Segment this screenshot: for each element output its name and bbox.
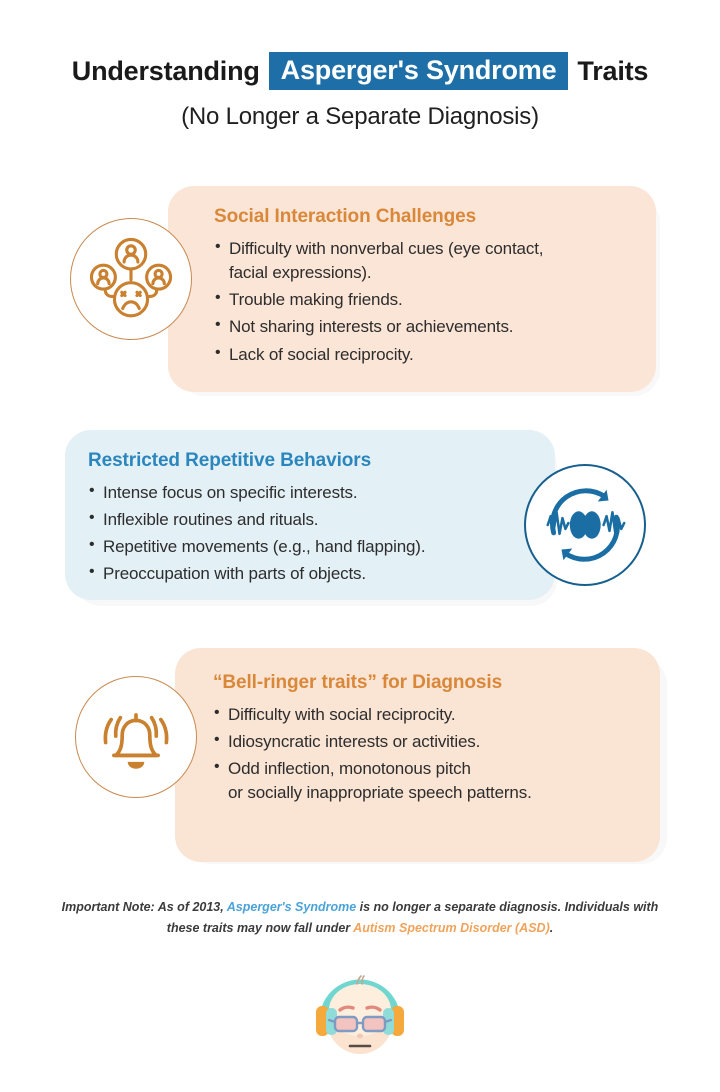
list-item: Odd inflection, monotonous pitch [213,757,643,781]
list-item: Preoccupation with parts of objects. [88,562,528,586]
title-suffix: Traits [577,56,648,87]
card-title-3: “Bell-ringer traits” for Diagnosis [213,672,643,694]
title-prefix: Understanding [72,56,260,87]
card-title-1: Social Interaction Challenges [214,206,644,228]
card-social-interaction-challenges: Social Interaction Challenges Difficulty… [168,186,656,392]
list-item-continuation: or socially inappropriate speech pattern… [213,781,643,805]
card-restricted-repetitive-behaviors: Restricted Repetitive Behaviors Intense … [65,430,555,600]
list-item: Difficulty with social reciprocity. [213,703,643,727]
people-network-sad-face-icon [70,218,192,340]
list-item: Lack of social reciprocity. [214,343,644,367]
list-item: Trouble making friends. [214,288,644,312]
page-title: Understanding Asperger's Syndrome Traits [0,52,720,90]
page-header: Understanding Asperger's Syndrome Traits… [0,52,720,131]
list-item: Inflexible routines and rituals. [88,508,528,532]
card-bullets-2: Intense focus on specific interests. Inf… [88,481,528,587]
footnote-part3: . [550,921,553,935]
footnote-blue-term: Asperger's Syndrome [227,900,356,914]
page-subtitle: (No Longer a Separate Diagnosis) [0,103,720,131]
card-bullets-3: Difficulty with social reciprocity. Idio… [213,703,643,806]
list-item: Not sharing interests or achievements. [214,315,644,339]
list-item: Intense focus on specific interests. [88,481,528,505]
face-with-headphones-logo [300,962,420,1062]
list-item: Difficulty with nonverbal cues (eye cont… [214,237,644,261]
ringing-bell-icon [75,676,197,798]
footnote: Important Note: As of 2013, Asperger's S… [55,897,665,938]
card-title-2: Restricted Repetitive Behaviors [88,450,528,472]
brain-cycle-arrows-icon [524,464,646,586]
card-bell-ringer-traits: “Bell-ringer traits” for Diagnosis Diffi… [175,648,660,862]
list-item: Repetitive movements (e.g., hand flappin… [88,535,528,559]
list-item-continuation: facial expressions). [214,261,644,285]
list-item: Idiosyncratic interests or activities. [213,730,643,754]
footnote-part1: Important Note: As of 2013, [62,900,227,914]
title-highlight: Asperger's Syndrome [269,52,569,90]
footnote-orange-term: Autism Spectrum Disorder (ASD) [353,921,550,935]
card-bullets-1: Difficulty with nonverbal cues (eye cont… [214,237,644,367]
